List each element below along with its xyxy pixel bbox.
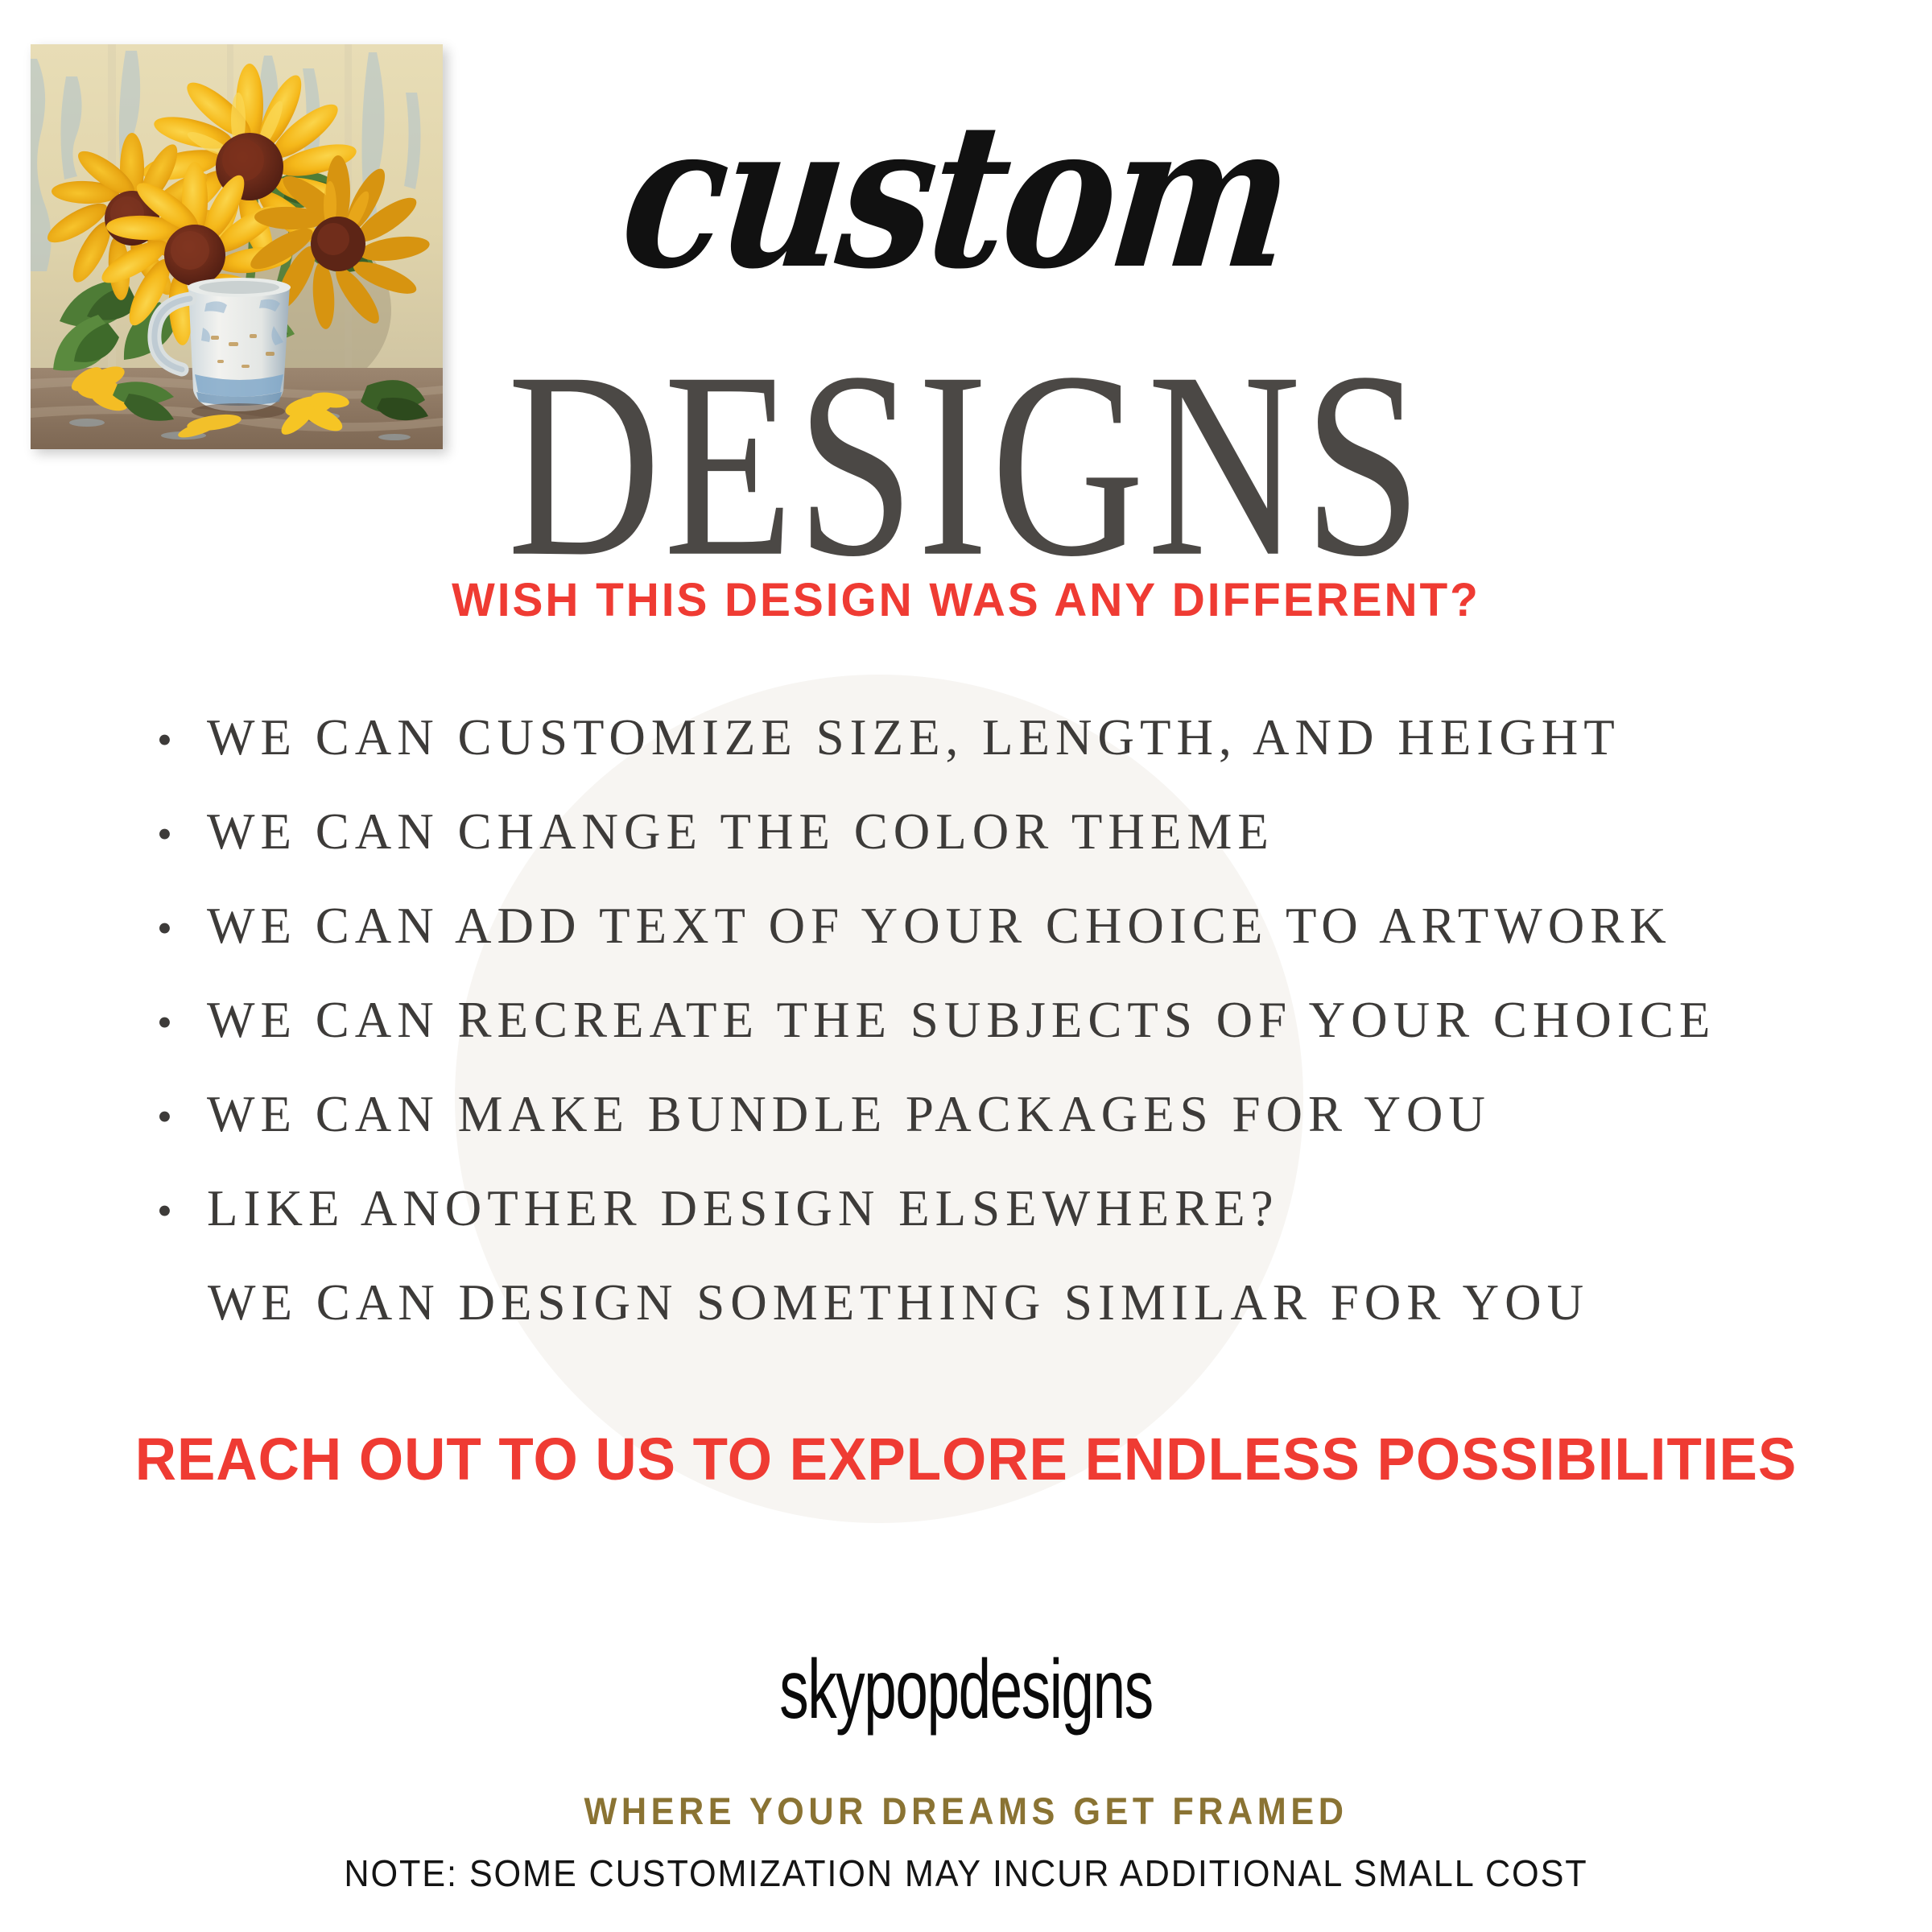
bullet-icon: • — [157, 1095, 207, 1138]
list-item: • WE CAN MAKE BUNDLE PACKAGES FOR YOU — [157, 1085, 1847, 1179]
feature-list: • WE CAN CUSTOMIZE SIZE, LENGTH, AND HEI… — [157, 708, 1847, 1274]
brand-logo-text: skypopdesigns — [290, 1644, 1642, 1736]
list-item-label: WE CAN ADD TEXT OF YOUR CHOICE TO ARTWOR… — [207, 897, 1672, 956]
list-item-label: LIKE ANOTHER DESIGN ELSEWHERE? — [207, 1179, 1279, 1238]
footer-note: NOTE: SOME CUSTOMIZATION MAY INCUR ADDIT… — [58, 1851, 1874, 1895]
list-item-label: WE CAN CHANGE THE COLOR THEME — [207, 803, 1274, 861]
bullet-icon: • — [157, 1189, 207, 1232]
list-item-label: WE CAN RECREATE THE SUBJECTS OF YOUR CHO… — [207, 991, 1715, 1050]
poster-canvas: custom DESIGNS WISH THIS DESIGN WAS ANY … — [0, 0, 1932, 1932]
list-item: • WE CAN RECREATE THE SUBJECTS OF YOUR C… — [157, 991, 1847, 1085]
brand-tagline: WHERE YOUR DREAMS GET FRAMED — [77, 1789, 1855, 1833]
bullet-icon: • — [157, 812, 207, 856]
list-item-continuation: WE CAN DESIGN SOMETHING SIMILAR FOR YOU — [208, 1274, 1589, 1332]
list-item-label: WE CAN MAKE BUNDLE PACKAGES FOR YOU — [207, 1085, 1491, 1144]
list-item: • LIKE ANOTHER DESIGN ELSEWHERE? — [157, 1179, 1847, 1274]
script-title-custom: custom — [0, 97, 1932, 296]
list-item: • WE CAN ADD TEXT OF YOUR CHOICE TO ARTW… — [157, 897, 1847, 991]
bullet-icon: • — [157, 1001, 207, 1044]
bullet-icon: • — [157, 718, 207, 762]
page-title-designs: DESIGNS — [116, 334, 1816, 594]
subtitle-question: WISH THIS DESIGN WAS ANY DIFFERENT? — [19, 573, 1913, 627]
list-item: • WE CAN CUSTOMIZE SIZE, LENGTH, AND HEI… — [157, 708, 1847, 803]
cta-text: REACH OUT TO US TO EXPLORE ENDLESS POSSI… — [39, 1425, 1893, 1493]
list-item: • WE CAN CHANGE THE COLOR THEME — [157, 803, 1847, 897]
bullet-icon: • — [157, 906, 207, 950]
list-item-label: WE CAN CUSTOMIZE SIZE, LENGTH, AND HEIGH… — [207, 708, 1620, 767]
